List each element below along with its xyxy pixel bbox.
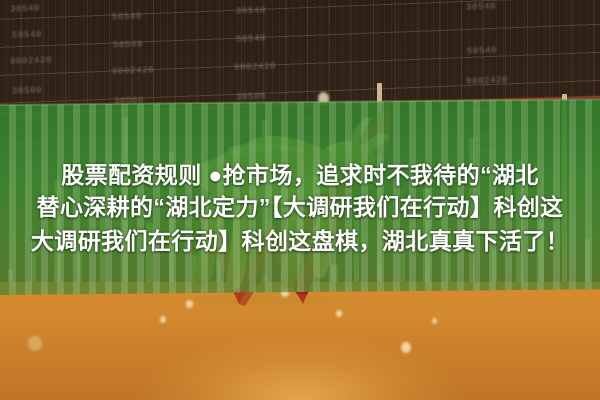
bokeh-spark	[401, 342, 411, 353]
bokeh-spark	[336, 310, 342, 317]
bokeh-spark	[186, 300, 193, 308]
bokeh-spark	[432, 318, 437, 324]
bokeh-spark	[160, 316, 166, 323]
article-cover-image: 3054050540505409002420505403050090024203…	[0, 0, 600, 400]
caption-line-2: 替心深耕的“湖北定力”【大调研我们在行动】科创这	[0, 192, 600, 222]
caption-line-3: 大调研我们在行动】科创这盘棋，湖北真真下活了！	[0, 226, 600, 256]
headline-caption: 股票配资规则 ●抢市场，追求时不我待的“湖北 替心深耕的“湖北定力”【大调研我们…	[0, 160, 600, 280]
caption-line-1: 股票配资规则 ●抢市场，追求时不我待的“湖北	[0, 160, 600, 190]
bokeh-spark	[28, 336, 42, 351]
